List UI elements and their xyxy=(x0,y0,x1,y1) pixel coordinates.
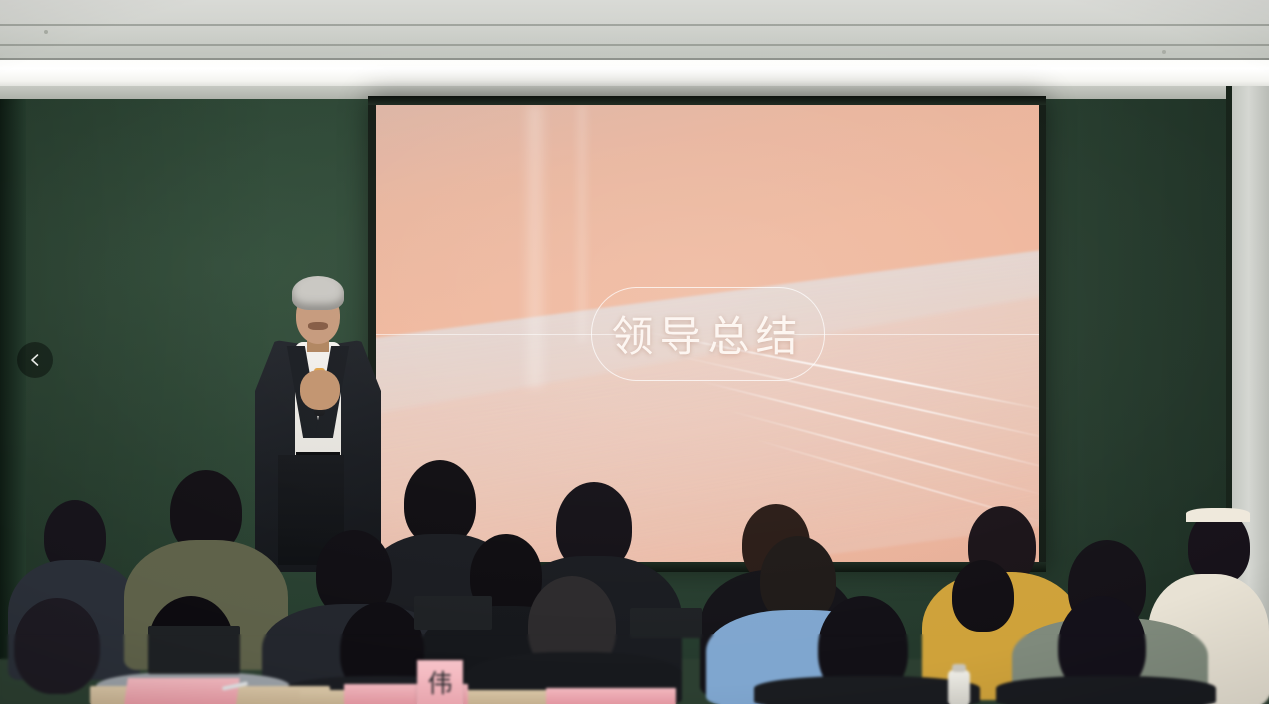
ceiling-light-strip xyxy=(0,60,1269,86)
projection-screen-top-bar xyxy=(368,96,1046,105)
attendee-body xyxy=(996,676,1216,704)
name-card-text: 伟 xyxy=(427,671,452,696)
attendee-head xyxy=(952,560,1014,632)
ceiling-fixture-dot xyxy=(44,30,48,34)
presenter-hands xyxy=(300,370,340,410)
pink-document xyxy=(546,688,676,704)
laptop xyxy=(148,626,240,674)
name-card: 伟 xyxy=(417,660,463,704)
slide-title: 领导总结 xyxy=(611,303,803,364)
ceiling-seam xyxy=(0,44,1269,46)
attendee-body xyxy=(754,676,980,704)
water-bottle-cap xyxy=(952,664,966,672)
photo-viewer: 领导总结 xyxy=(0,0,1269,704)
ceiling xyxy=(0,0,1269,60)
laptop xyxy=(630,608,702,638)
presenter-hair xyxy=(292,276,344,310)
ceiling-seam xyxy=(0,24,1269,26)
ceiling-fixture-dot xyxy=(1162,50,1166,54)
projection-screen: 领导总结 xyxy=(376,105,1039,562)
wall-left-shadow xyxy=(0,99,26,659)
water-bottle xyxy=(948,670,970,704)
prev-image-button[interactable] xyxy=(17,342,53,378)
attendee-head xyxy=(14,598,100,694)
chevron-left-icon xyxy=(28,353,42,367)
slide-title-pill: 领导总结 xyxy=(591,287,825,381)
laptop xyxy=(414,596,492,630)
attendee-headband xyxy=(1186,508,1250,522)
pink-document xyxy=(124,678,240,704)
